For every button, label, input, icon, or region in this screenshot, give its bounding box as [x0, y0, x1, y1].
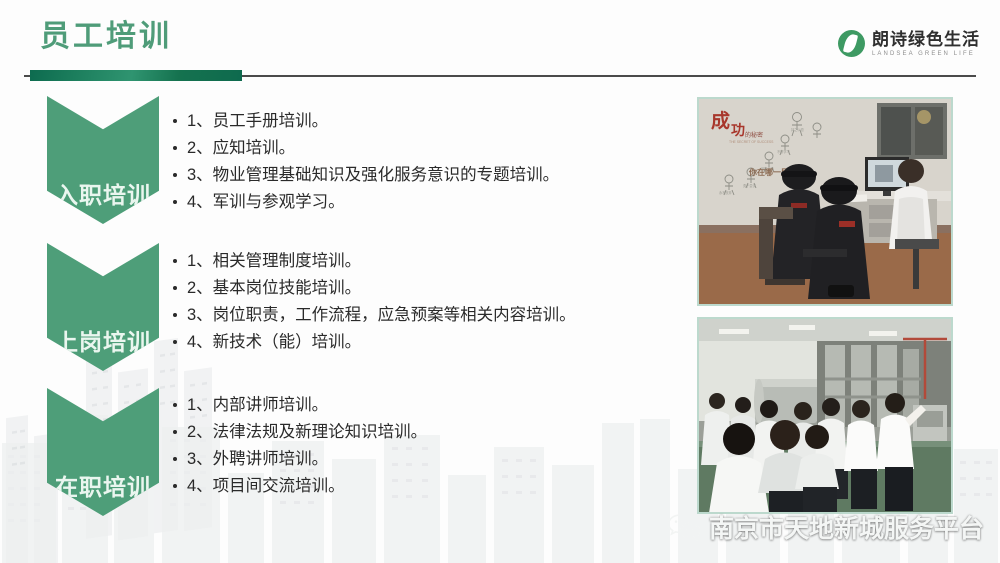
list-item: 4、项目间交流培训。: [173, 473, 693, 500]
list-item: 3、物业管理基础知识及强化服务意识的专题培训。: [173, 162, 693, 189]
slide-canvas: 员工培训 朗诗绿色生活 LANDSEA GREEN LIFE 入职培训 上岗培训…: [0, 0, 1000, 563]
svg-text:持之以恒: 持之以恒: [791, 127, 805, 132]
security-staff-computer-training-photo: 成 功 的秘密 THE SECRET OF SUCCESS 持之以恒不断学习 积…: [697, 97, 953, 306]
stage-chevron-posting: 上岗培训: [47, 243, 159, 371]
leaf-circle-logo-icon: [838, 30, 865, 57]
page-title: 员工培训: [40, 22, 172, 52]
svg-text:永不放弃: 永不放弃: [719, 190, 733, 195]
stage-label: 入职培训: [55, 176, 151, 224]
brand-text: 朗诗绿色生活 LANDSEA GREEN LIFE: [872, 31, 980, 57]
brand-name-cn: 朗诗绿色生活: [872, 31, 980, 48]
list-item: 1、内部讲师培训。: [173, 392, 693, 419]
list-item: 1、员工手册培训。: [173, 108, 693, 135]
wechat-watermark: 南京市天地新城服务平台: [667, 509, 984, 545]
stage-content-onboarding: 1、员工手册培训。 2、应知培训。 3、物业管理基础知识及强化服务意识的专题培训…: [173, 108, 693, 216]
svg-text:勇于尝试: 勇于尝试: [743, 183, 757, 188]
list-item: 2、法律法规及新理论知识培训。: [173, 419, 693, 446]
stage-chevron-onboarding: 入职培训: [47, 96, 159, 224]
list-item: 2、基本岗位技能培训。: [173, 275, 693, 302]
list-item: 3、外聘讲师培训。: [173, 446, 693, 473]
svg-text:不断学习: 不断学习: [777, 149, 790, 154]
svg-text:成: 成: [711, 109, 730, 132]
watermark-text: 南京市天地新城服务平台: [709, 509, 984, 545]
stage-label: 上岗培训: [55, 323, 151, 371]
header-rule-accent: [30, 70, 242, 81]
stage-chevron-inservice: 在职培训: [47, 388, 159, 516]
stage-content-inservice: 1、内部讲师培训。 2、法律法规及新理论知识培训。 3、外聘讲师培训。 4、项目…: [173, 392, 693, 500]
svg-text:THE SECRET OF SUCCESS: THE SECRET OF SUCCESS: [729, 140, 774, 144]
list-item: 4、军训与参观学习。: [173, 189, 693, 216]
brand-logo: 朗诗绿色生活 LANDSEA GREEN LIFE: [838, 30, 980, 57]
svg-text:功: 功: [731, 123, 745, 139]
wechat-icon: [667, 512, 701, 542]
svg-text:的秘密: 的秘密: [745, 131, 763, 139]
list-item: 2、应知培训。: [173, 135, 693, 162]
list-item: 4、新技术（能）培训。: [173, 329, 693, 356]
list-item: 3、岗位职责，工作流程，应急预案等相关内容培训。: [173, 302, 693, 329]
brand-name-en: LANDSEA GREEN LIFE: [872, 51, 980, 57]
group-site-visit-training-photo: [697, 317, 953, 514]
stage-content-posting: 1、相关管理制度培训。 2、基本岗位技能培训。 3、岗位职责，工作流程，应急预案…: [173, 248, 693, 356]
list-item: 1、相关管理制度培训。: [173, 248, 693, 275]
stage-label: 在职培训: [55, 468, 151, 516]
